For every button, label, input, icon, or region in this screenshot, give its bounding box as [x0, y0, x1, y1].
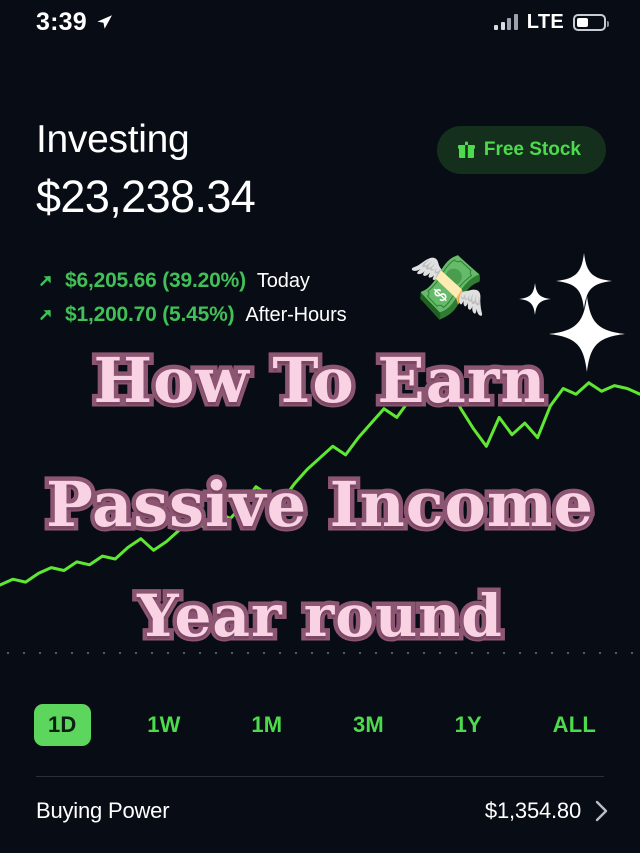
navigation-arrow-icon	[96, 14, 113, 31]
buying-power-row[interactable]: Buying Power $1,354.80	[36, 798, 608, 824]
battery-icon	[573, 14, 606, 31]
buying-power-label: Buying Power	[36, 798, 169, 824]
arrow-up-right-icon	[38, 273, 54, 289]
portfolio-balance: $23,238.34	[36, 173, 255, 220]
gain-period-afterhours: After-Hours	[245, 304, 346, 327]
time-range-selector[interactable]: 1D 1W 1M 3M 1Y ALL	[34, 704, 610, 746]
signal-bars-icon	[494, 14, 518, 30]
period-all[interactable]: ALL	[539, 704, 610, 746]
arrow-up-right-icon	[38, 307, 54, 323]
account-header: Investing $23,238.34 Free Stock	[36, 120, 606, 220]
header-titles: Investing $23,238.34	[36, 120, 255, 220]
gain-amount-afterhours: $1,200.70 (5.45%)	[65, 303, 234, 327]
gift-icon	[458, 141, 475, 159]
network-type-label: LTE	[527, 11, 564, 34]
sparkle-star-icon	[519, 283, 551, 315]
status-bar-left: 3:39	[36, 8, 113, 37]
chart-line-svg	[0, 330, 640, 655]
period-1w[interactable]: 1W	[133, 704, 194, 746]
page-title: Investing	[36, 120, 255, 161]
gain-row-today: $6,205.66 (39.20%) Today	[38, 264, 347, 298]
gain-row-afterhours: $1,200.70 (5.45%) After-Hours	[38, 298, 347, 332]
period-3m[interactable]: 3M	[339, 704, 398, 746]
period-1m[interactable]: 1M	[237, 704, 296, 746]
header-top-row: Investing $23,238.34 Free Stock	[36, 120, 606, 220]
footer-divider	[36, 776, 604, 777]
money-with-wings-emoji: 💸	[408, 257, 487, 322]
chevron-right-icon[interactable]	[595, 800, 608, 822]
status-bar-right: LTE	[494, 11, 606, 34]
buying-power-value: $1,354.80	[485, 798, 581, 824]
gain-period-today: Today	[257, 270, 310, 293]
chart-baseline-dotted	[0, 652, 640, 654]
status-bar: 3:39 LTE	[0, 0, 640, 44]
free-stock-button[interactable]: Free Stock	[437, 126, 606, 174]
free-stock-label: Free Stock	[484, 139, 581, 161]
period-1y[interactable]: 1Y	[441, 704, 496, 746]
gain-amount-today: $6,205.66 (39.20%)	[65, 269, 246, 293]
status-bar-clock: 3:39	[36, 8, 87, 37]
performance-summary: $6,205.66 (39.20%) Today $1,200.70 (5.45…	[38, 264, 347, 332]
period-1d[interactable]: 1D	[34, 704, 91, 746]
portfolio-chart[interactable]	[0, 330, 640, 655]
